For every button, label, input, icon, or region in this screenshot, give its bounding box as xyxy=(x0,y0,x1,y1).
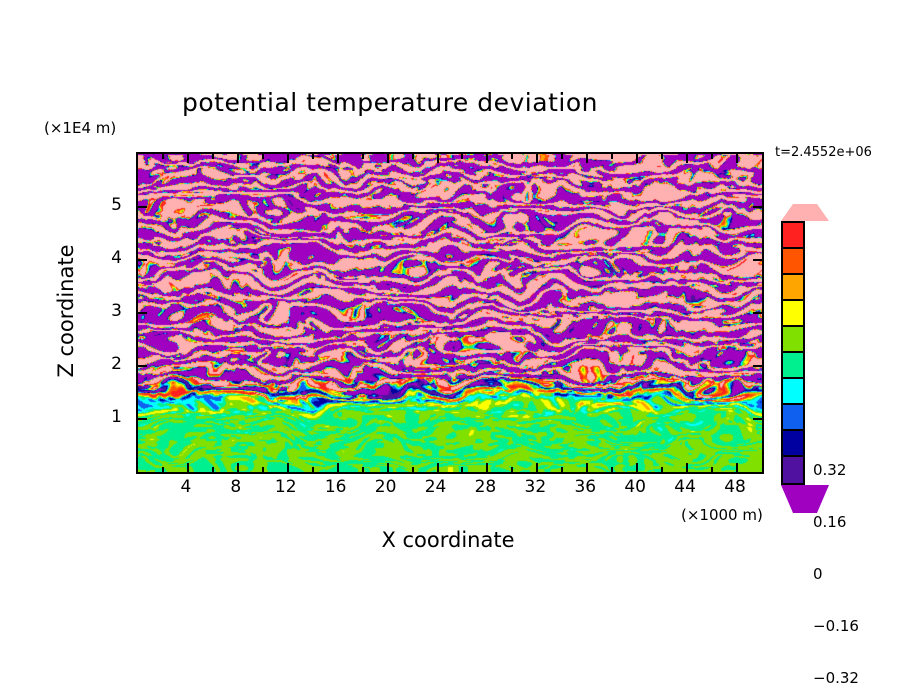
y-tick-label: 1 xyxy=(111,407,122,427)
colorbar-swatch xyxy=(783,457,803,483)
y-tick-right xyxy=(753,259,762,261)
x-tick-label: 36 xyxy=(574,477,596,497)
page-title: potential temperature deviation xyxy=(0,88,780,117)
x-tick-top xyxy=(486,154,488,163)
x-tick-label: 16 xyxy=(325,477,347,497)
colorbar-tick-label: 0.16 xyxy=(813,513,846,531)
contour-plot-area xyxy=(136,152,764,474)
x-minor-tick xyxy=(162,467,164,472)
x-minor-tick xyxy=(711,154,713,159)
y-tick-label: 5 xyxy=(111,195,122,215)
x-minor-tick xyxy=(611,154,613,159)
x-tick-top xyxy=(387,154,389,163)
x-tick-top xyxy=(437,154,439,163)
colorbar-swatch xyxy=(783,275,803,301)
colorbar: 0.320.160−0.16−0.32 xyxy=(781,221,805,485)
x-minor-tick xyxy=(262,154,264,159)
x-tick-label: 12 xyxy=(275,477,297,497)
x-minor-tick xyxy=(412,467,414,472)
x-tick-bottom xyxy=(237,463,239,472)
x-tick-bottom xyxy=(437,463,439,472)
x-tick-top xyxy=(686,154,688,163)
x-minor-tick xyxy=(561,467,563,472)
x-minor-tick xyxy=(212,154,214,159)
y-tick-label: 3 xyxy=(111,301,122,321)
y-tick-left xyxy=(138,365,147,367)
colorbar-body xyxy=(781,221,805,485)
colorbar-tick-label: 0.32 xyxy=(813,461,846,479)
x-minor-tick xyxy=(511,154,513,159)
colorbar-swatch xyxy=(783,223,803,249)
y-tick-left xyxy=(138,259,147,261)
time-stamp-annotation: t=2.4552e+06 xyxy=(775,145,872,160)
x-tick-bottom xyxy=(287,463,289,472)
figure-canvas: potential temperature deviation (×1E4 m)… xyxy=(0,0,904,654)
colorbar-over-arrow xyxy=(781,204,829,221)
x-tick-top xyxy=(636,154,638,163)
x-axis-units-label: (×1000 m) xyxy=(681,506,763,524)
colorbar-swatch xyxy=(783,249,803,275)
x-minor-tick xyxy=(412,154,414,159)
x-tick-bottom xyxy=(187,463,189,472)
x-minor-tick xyxy=(262,467,264,472)
colorbar-swatch xyxy=(783,327,803,353)
x-tick-bottom xyxy=(586,463,588,472)
x-tick-label: 28 xyxy=(475,477,497,497)
x-minor-tick xyxy=(611,467,613,472)
x-axis-title: X coordinate xyxy=(136,528,760,552)
y-axis-title: Z coordinate xyxy=(54,211,78,411)
x-tick-bottom xyxy=(486,463,488,472)
y-axis-units-label: (×1E4 m) xyxy=(44,119,116,137)
colorbar-swatch xyxy=(783,353,803,379)
x-tick-top xyxy=(736,154,738,163)
x-tick-top xyxy=(237,154,239,163)
x-minor-tick xyxy=(212,467,214,472)
x-tick-top xyxy=(586,154,588,163)
y-tick-left xyxy=(138,312,147,314)
x-tick-top xyxy=(337,154,339,163)
x-tick-label: 32 xyxy=(525,477,547,497)
x-tick-bottom xyxy=(686,463,688,472)
x-minor-tick xyxy=(511,467,513,472)
colorbar-tick-label: 0 xyxy=(813,565,823,583)
y-tick-label: 2 xyxy=(111,354,122,374)
x-tick-top xyxy=(287,154,289,163)
x-tick-label: 4 xyxy=(180,477,191,497)
x-tick-top xyxy=(536,154,538,163)
contour-field xyxy=(138,154,762,472)
y-tick-right xyxy=(753,418,762,420)
colorbar-under-arrow xyxy=(781,485,829,513)
y-tick-label: 4 xyxy=(111,248,122,268)
x-tick-label: 44 xyxy=(674,477,696,497)
x-tick-bottom xyxy=(636,463,638,472)
x-minor-tick xyxy=(711,467,713,472)
x-tick-bottom xyxy=(387,463,389,472)
x-minor-tick xyxy=(461,467,463,472)
x-minor-tick xyxy=(561,154,563,159)
x-minor-tick xyxy=(312,154,314,159)
x-tick-bottom xyxy=(337,463,339,472)
x-minor-tick xyxy=(461,154,463,159)
colorbar-swatch xyxy=(783,431,803,457)
x-minor-tick xyxy=(312,467,314,472)
y-tick-left xyxy=(138,418,147,420)
x-tick-bottom xyxy=(536,463,538,472)
x-minor-tick xyxy=(661,467,663,472)
x-minor-tick xyxy=(661,154,663,159)
x-tick-label: 24 xyxy=(425,477,447,497)
y-tick-right xyxy=(753,365,762,367)
x-tick-top xyxy=(187,154,189,163)
colorbar-tick-label: −0.32 xyxy=(813,669,859,687)
x-minor-tick xyxy=(362,467,364,472)
y-tick-right xyxy=(753,206,762,208)
colorbar-swatch xyxy=(783,405,803,431)
x-tick-label: 8 xyxy=(230,477,241,497)
y-tick-right xyxy=(753,312,762,314)
y-tick-left xyxy=(138,206,147,208)
x-tick-label: 48 xyxy=(724,477,746,497)
colorbar-swatch xyxy=(783,301,803,327)
colorbar-swatch xyxy=(783,379,803,405)
colorbar-tick-label: −0.16 xyxy=(813,617,859,635)
x-tick-label: 20 xyxy=(375,477,397,497)
x-tick-bottom xyxy=(736,463,738,472)
x-tick-label: 40 xyxy=(624,477,646,497)
x-minor-tick xyxy=(362,154,364,159)
x-minor-tick xyxy=(162,154,164,159)
